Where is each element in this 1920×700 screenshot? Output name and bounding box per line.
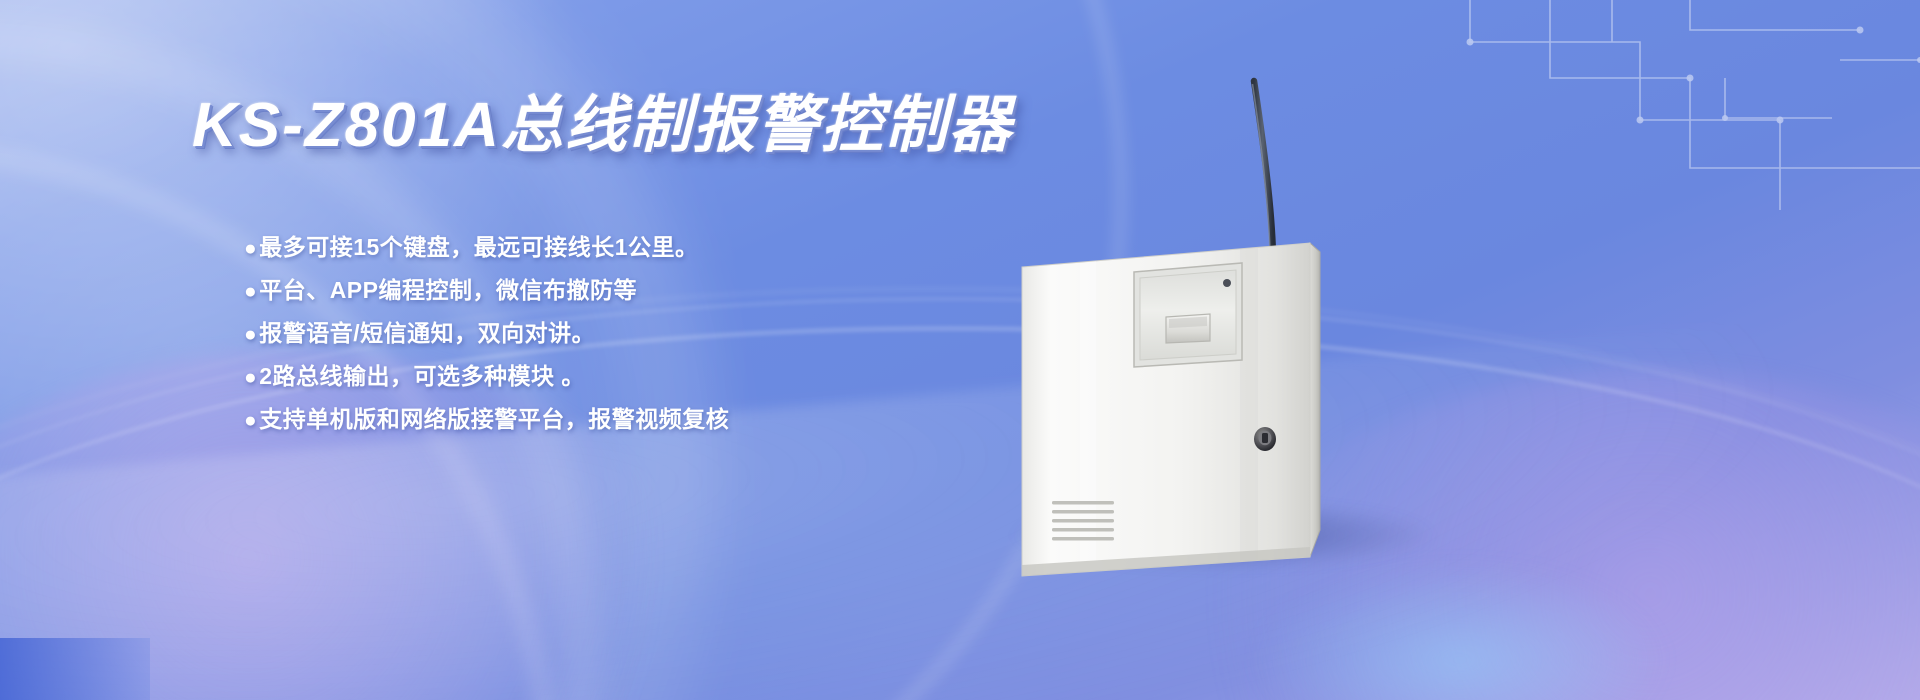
- status-indicator-led: [1223, 279, 1231, 287]
- keypad-display-window: [1134, 263, 1242, 367]
- product-banner: KS-Z801A总线制报警控制器 ● 最多可接15个键盘，最远可接线长1公里。 …: [0, 0, 1920, 700]
- enclosure-side-panel: [1310, 243, 1320, 557]
- list-item: ● 最多可接15个键盘，最远可接线长1公里。: [244, 236, 1004, 259]
- antenna-icon: [1253, 81, 1281, 268]
- list-item-label: 报警语音/短信通知，双向对讲。: [259, 322, 595, 345]
- bullet-dot-icon: ●: [244, 410, 257, 431]
- list-item-label: 支持单机版和网络版接警平台，报警视频复核: [259, 408, 729, 431]
- product-image-alarm-control-panel: [1010, 60, 1430, 580]
- bullet-dot-icon: ●: [244, 281, 257, 302]
- lock-cylinder: [1254, 427, 1276, 451]
- bullet-dot-icon: ●: [244, 367, 257, 388]
- list-item: ● 平台、APP编程控制，微信布撤防等: [244, 279, 1004, 302]
- page-title: KS-Z801A总线制报警控制器: [192, 74, 1013, 164]
- background-corner-block: [0, 638, 150, 700]
- list-item: ● 支持单机版和网络版接警平台，报警视频复核: [244, 408, 1004, 431]
- bullet-dot-icon: ●: [244, 238, 257, 259]
- bullet-dot-icon: ●: [244, 324, 257, 345]
- list-item-label: 最多可接15个键盘，最远可接线长1公里。: [259, 236, 698, 259]
- list-item: ● 2路总线输出，可选多种模块 。: [244, 365, 1004, 388]
- list-item: ● 报警语音/短信通知，双向对讲。: [244, 322, 1004, 345]
- list-item-label: 2路总线输出，可选多种模块 。: [259, 365, 585, 388]
- feature-list: ● 最多可接15个键盘，最远可接线长1公里。 ● 平台、APP编程控制，微信布撤…: [244, 236, 1004, 451]
- list-item-label: 平台、APP编程控制，微信布撤防等: [259, 279, 637, 302]
